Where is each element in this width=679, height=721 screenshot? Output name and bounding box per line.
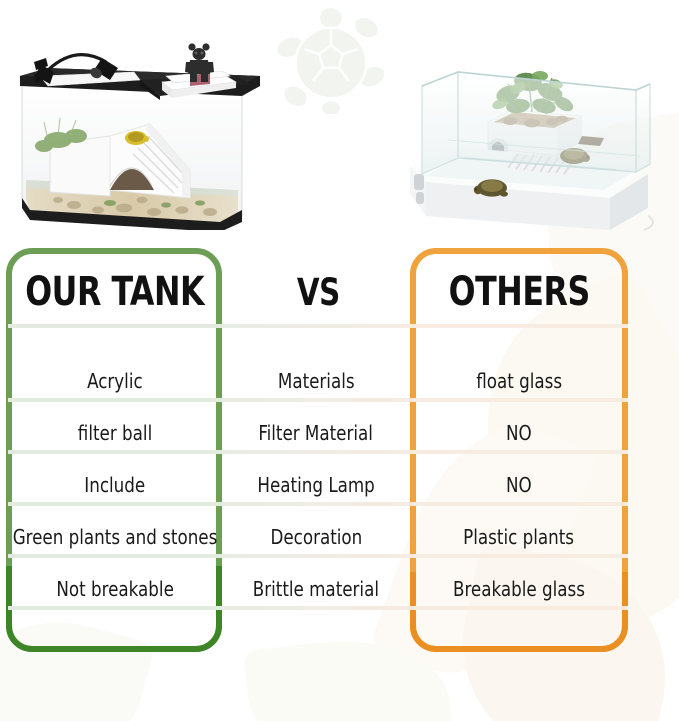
table-row: Brittle material — [224, 566, 408, 612]
cell-others-value: Plastic plants — [464, 525, 575, 549]
table-row: Filter Material — [224, 410, 408, 456]
cell-others-value: NO — [506, 473, 532, 497]
cell-feature-label: Decoration — [270, 525, 362, 549]
cell-feature-label: Materials — [278, 369, 355, 393]
row-divider — [8, 324, 222, 328]
table-row: float glass — [412, 358, 626, 404]
row-divider — [222, 324, 410, 328]
our-tank-header: OUR TANK — [8, 264, 222, 320]
row-divider — [410, 324, 628, 328]
cell-our-value: filter ball — [78, 421, 152, 445]
cell-others-value: float glass — [476, 369, 562, 393]
table-row: NO — [412, 462, 626, 508]
cell-feature-label: Brittle material — [253, 577, 379, 601]
cell-others-value: Breakable glass — [453, 577, 585, 601]
comparison-table: OUR TANK VS OTHERS Acrylic Materia — [0, 246, 679, 656]
table-row: Not breakable — [8, 566, 222, 612]
table-row: filter ball — [8, 410, 222, 456]
table-row: Green plants and stones — [8, 514, 222, 560]
table-row: Acrylic — [8, 358, 222, 404]
cell-our-value: Acrylic — [87, 369, 143, 393]
others-title: OTHERS — [448, 269, 589, 315]
cell-feature-label: Filter Material — [259, 421, 374, 445]
vs-label: VS — [228, 264, 408, 320]
glass-turtle-tank-photo — [404, 48, 654, 233]
our-tank-title: OUR TANK — [26, 269, 205, 315]
table-row: Plastic plants — [412, 514, 626, 560]
cell-our-value: Green plants and stones — [13, 525, 218, 549]
cell-feature-label: Heating Lamp — [257, 473, 374, 497]
table-row: NO — [412, 410, 626, 456]
cell-our-value: Include — [85, 473, 146, 497]
table-row: Materials — [224, 358, 408, 404]
table-row: Breakable glass — [412, 566, 626, 612]
acrylic-turtle-tank-photo — [14, 40, 264, 230]
cell-others-value: NO — [506, 421, 532, 445]
vs-text: VS — [297, 271, 340, 314]
table-row: Heating Lamp — [224, 462, 408, 508]
comparison-infographic: OUR TANK VS OTHERS Acrylic Materia — [0, 0, 679, 721]
cell-our-value: Not breakable — [56, 577, 173, 601]
others-header: OTHERS — [412, 264, 626, 320]
table-row: Decoration — [224, 514, 408, 560]
table-row: Include — [8, 462, 222, 508]
product-photos — [0, 0, 679, 240]
